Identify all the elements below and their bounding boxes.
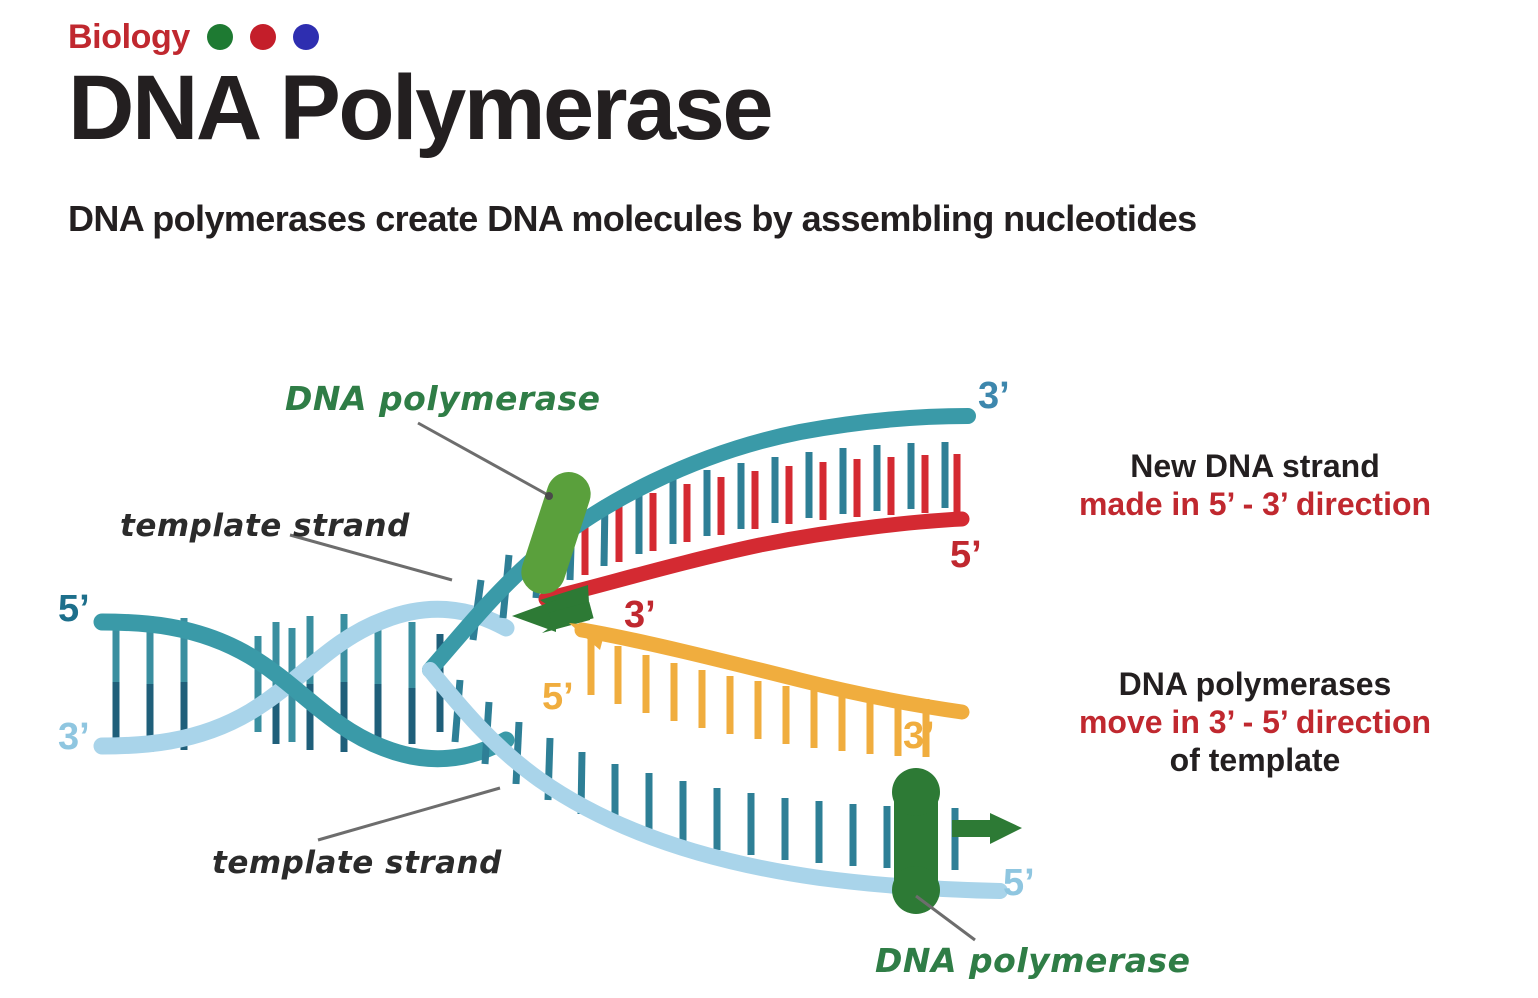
dot-red-icon <box>250 24 276 50</box>
label-dna-polymerase-top: DNA polymerase <box>285 379 601 418</box>
callout-new-strand-line2: made in 5’ - 3’ direction <box>1020 486 1490 524</box>
prime-label-lagging-new-3: 3’ <box>903 715 935 758</box>
callout-movement-line2: move in 3’ - 5’ direction <box>1020 704 1490 742</box>
polymerase-lagging-direction-arrow <box>952 813 1022 844</box>
leader-line-template-bottom <box>318 788 500 840</box>
leader-line-polymerase-bottom <box>916 896 975 940</box>
page-subtitle: DNA polymerases create DNA molecules by … <box>68 198 1488 240</box>
brand-label: Biology <box>68 20 190 54</box>
label-dna-polymerase-bottom: DNA polymerase <box>875 941 1191 980</box>
callout-movement-direction: DNA polymerases move in 3’ - 5’ directio… <box>1020 666 1490 779</box>
leader-line-polymerase-top <box>418 423 548 495</box>
lagging-new-strand-backbone <box>582 630 962 712</box>
prime-label-leading-new-5: 5’ <box>950 534 982 577</box>
callout-new-strand: New DNA strand made in 5’ - 3’ direction <box>1020 448 1490 524</box>
callout-movement-line1: DNA polymerases <box>1020 666 1490 704</box>
prime-label-lagging-new-5: 5’ <box>542 676 574 719</box>
label-template-strand-top: template strand <box>120 508 410 544</box>
brand-row: Biology <box>68 14 1488 60</box>
prime-label-helix-bottom-3: 3’ <box>58 716 90 759</box>
polymerase-lagging <box>892 768 940 914</box>
callout-movement-line3: of template <box>1020 742 1490 780</box>
dot-blue-icon <box>293 24 319 50</box>
page-title: DNA Polymerase <box>68 62 1488 154</box>
dot-green-icon <box>207 24 233 50</box>
prime-label-leading-new-3: 3’ <box>624 594 656 637</box>
prime-label-helix-top-5: 5’ <box>58 588 90 631</box>
callout-new-strand-line1: New DNA strand <box>1020 448 1490 486</box>
leading-new-strand-backbone <box>546 519 962 599</box>
prime-label-lagging-template-5: 5’ <box>1003 862 1035 905</box>
leader-dot-polymerase-top <box>545 492 553 500</box>
header-block: Biology DNA Polymerase DNA polymerases c… <box>68 14 1488 240</box>
prime-label-leading-template-3: 3’ <box>978 375 1010 418</box>
label-template-strand-bottom: template strand <box>212 845 502 881</box>
lagging-strand-fork <box>318 623 1022 940</box>
